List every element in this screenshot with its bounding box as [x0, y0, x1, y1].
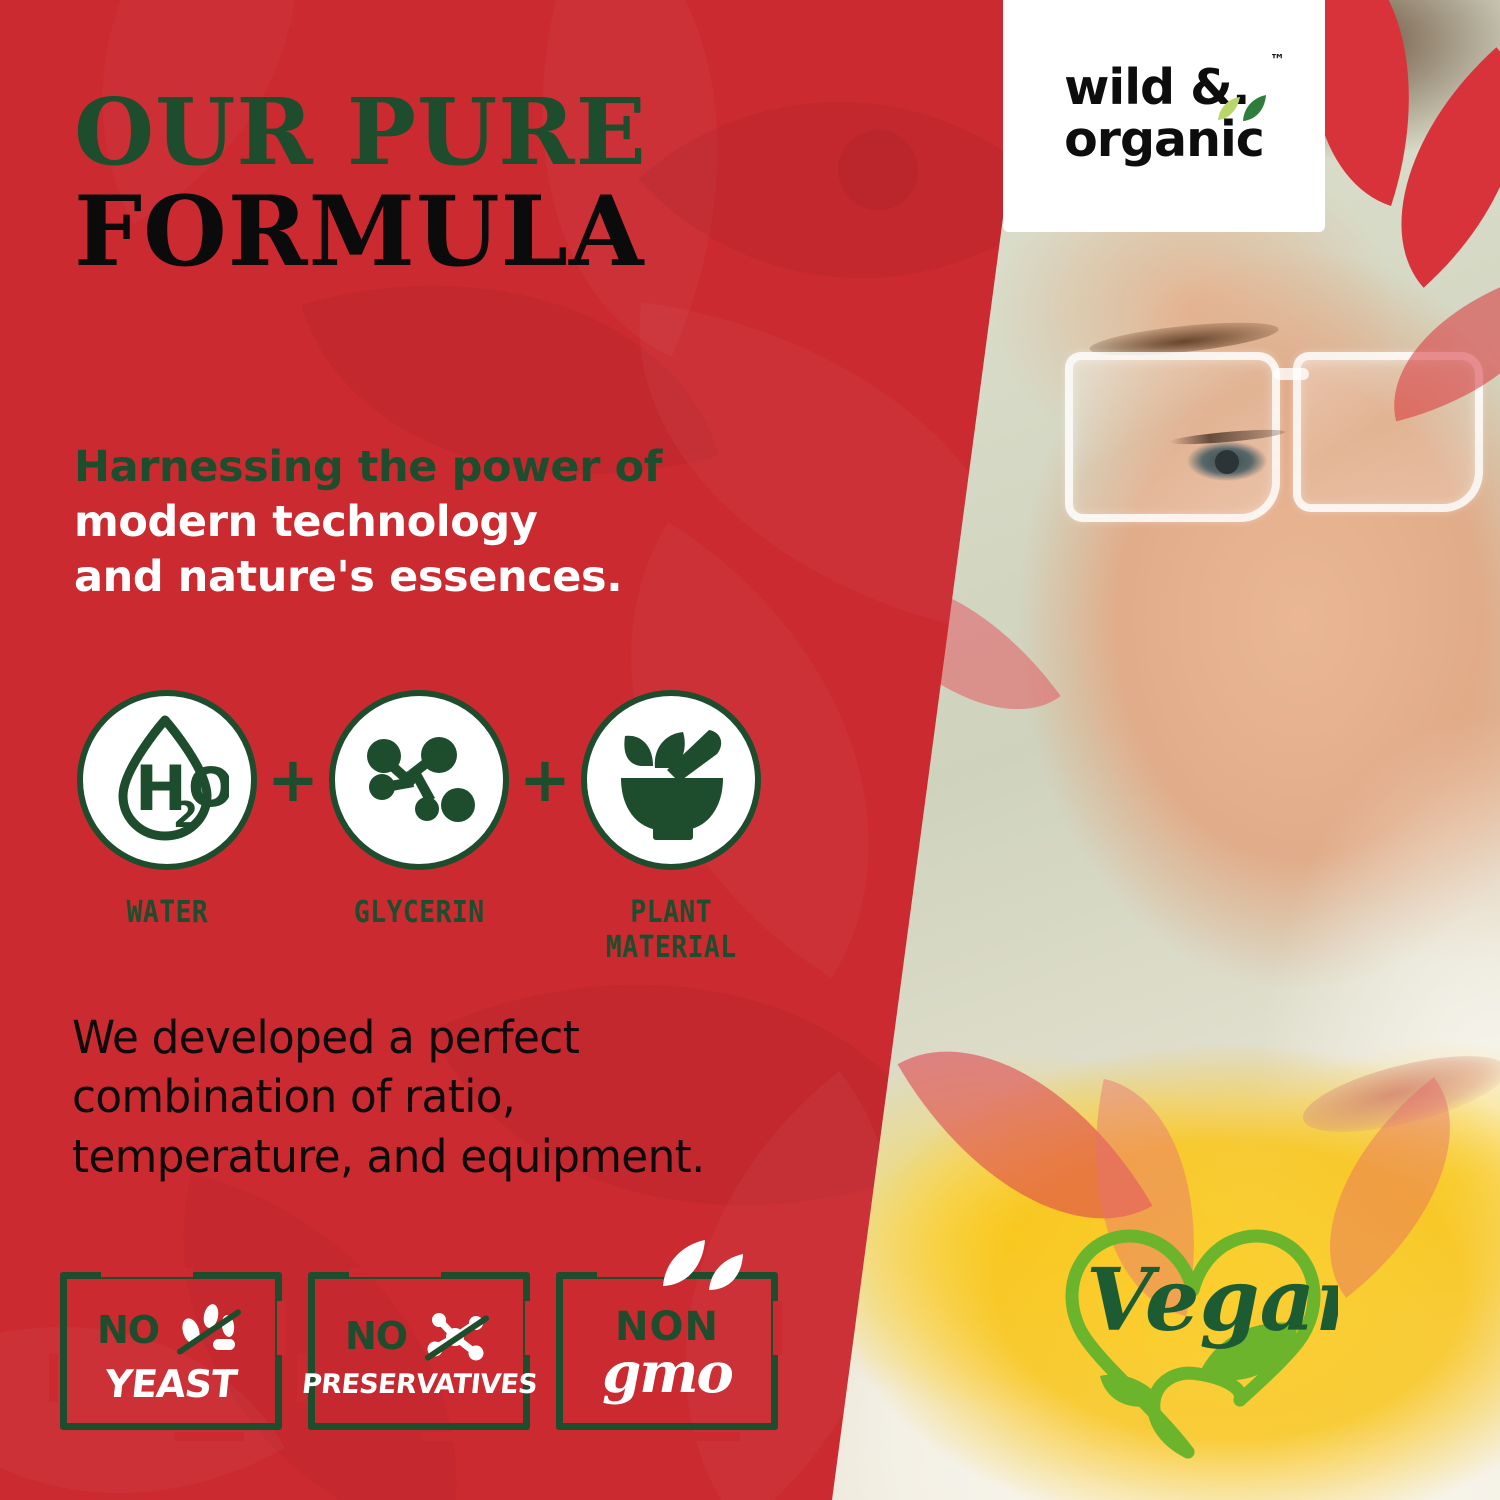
badge-prefix-no: NO: [345, 1314, 407, 1358]
headline-line-1: OUR PURE: [74, 88, 647, 176]
ingredient-plant-material: PLANT MATERIAL: [576, 690, 766, 965]
ingredient-glycerin: GLYCERIN: [324, 690, 514, 931]
glasses-bridge: [1273, 368, 1309, 380]
svg-text:O: O: [188, 756, 229, 819]
ingredients-row: H 2 O WATER +: [72, 690, 766, 965]
heart-with-leaves-icon: Vegan: [1048, 1212, 1338, 1484]
eye: [1181, 438, 1273, 484]
logo-line-2: organic: [1064, 114, 1264, 165]
badge-non-gmo: NON gmo: [556, 1272, 778, 1430]
crossed-out-yeast-icon: [169, 1301, 245, 1359]
certification-badges: NO YEAST: [60, 1272, 778, 1430]
body-copy: We developed a perfect combination of ra…: [72, 1008, 705, 1186]
subheading-line-2: modern technology: [74, 495, 662, 550]
page-title: OUR PURE FORMULA: [74, 88, 647, 278]
trademark-symbol: ™: [1270, 53, 1284, 68]
eyebrow: [1088, 316, 1280, 362]
water-drop-h2o-icon: H 2 O: [105, 714, 229, 846]
glycerin-badge-circle: [329, 690, 509, 870]
mortar-pestle-icon: [605, 716, 737, 844]
body-copy-line-1: We developed a perfect: [72, 1008, 705, 1067]
molecule-icon: [354, 715, 484, 845]
eyelash-line: [1169, 427, 1285, 447]
plus-separator-1: +: [262, 690, 324, 870]
headline-line-2: FORMULA: [74, 186, 647, 278]
badge-prefix-no: NO: [97, 1308, 159, 1352]
logo-leaf-icon: [1216, 94, 1268, 124]
vegan-label: Vegan: [1086, 1250, 1338, 1351]
water-badge-circle: H 2 O: [77, 690, 257, 870]
glasses-left-lens: [1065, 352, 1280, 522]
subheading-line-1: Harnessing the power of: [74, 440, 662, 495]
brand-logo[interactable]: wild &. ™ organic: [1003, 0, 1325, 232]
body-copy-line-3: temperature, and equipment.: [72, 1127, 705, 1186]
subheading: Harnessing the power of modern technolog…: [74, 440, 662, 605]
subheading-line-3: and nature's essences.: [74, 550, 662, 605]
ingredient-label-plant-material: PLANT MATERIAL: [606, 896, 737, 965]
badge-word-gmo: gmo: [602, 1348, 732, 1398]
badge-no-yeast: NO YEAST: [60, 1272, 282, 1430]
body-copy-line-2: combination of ratio,: [72, 1067, 705, 1126]
ingredient-label-glycerin: GLYCERIN: [354, 896, 485, 931]
infographic-canvas: wild &. ™ organic OUR PURE FORMULA Harne…: [0, 0, 1500, 1500]
plant-material-badge-circle: [581, 690, 761, 870]
ingredient-water: H 2 O WATER: [72, 690, 262, 931]
ingredient-label-water: WATER: [126, 896, 208, 931]
vegan-badge: Vegan: [1048, 1212, 1338, 1484]
badge-word-preservatives: PRESERVATIVES: [300, 1371, 538, 1398]
badge-no-preservatives: NO: [308, 1272, 530, 1430]
plus-separator-2: +: [514, 690, 576, 870]
badge-word-yeast: YEAST: [103, 1365, 238, 1403]
crossed-out-molecule-icon: [417, 1307, 493, 1365]
